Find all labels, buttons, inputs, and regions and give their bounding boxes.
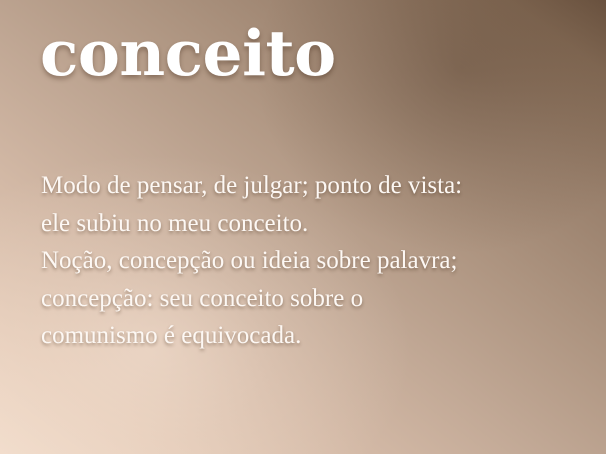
definition-line: Modo de pensar, de julgar; ponto de vist… [41, 167, 581, 205]
dicio-definition-card: conceito Modo de pensar, de julgar; pont… [0, 0, 606, 454]
definition-line: ele subiu no meu conceito. [41, 205, 581, 243]
page-title: conceito [40, 22, 336, 85]
definition-line: Noção, concepção ou ideia sobre palavra; [41, 242, 581, 280]
definition-line: comunismo é equivocada. [41, 317, 581, 355]
definition-block: Modo de pensar, de julgar; ponto de vist… [41, 167, 581, 355]
definition-line: concepção: seu conceito sobre o [41, 280, 581, 318]
